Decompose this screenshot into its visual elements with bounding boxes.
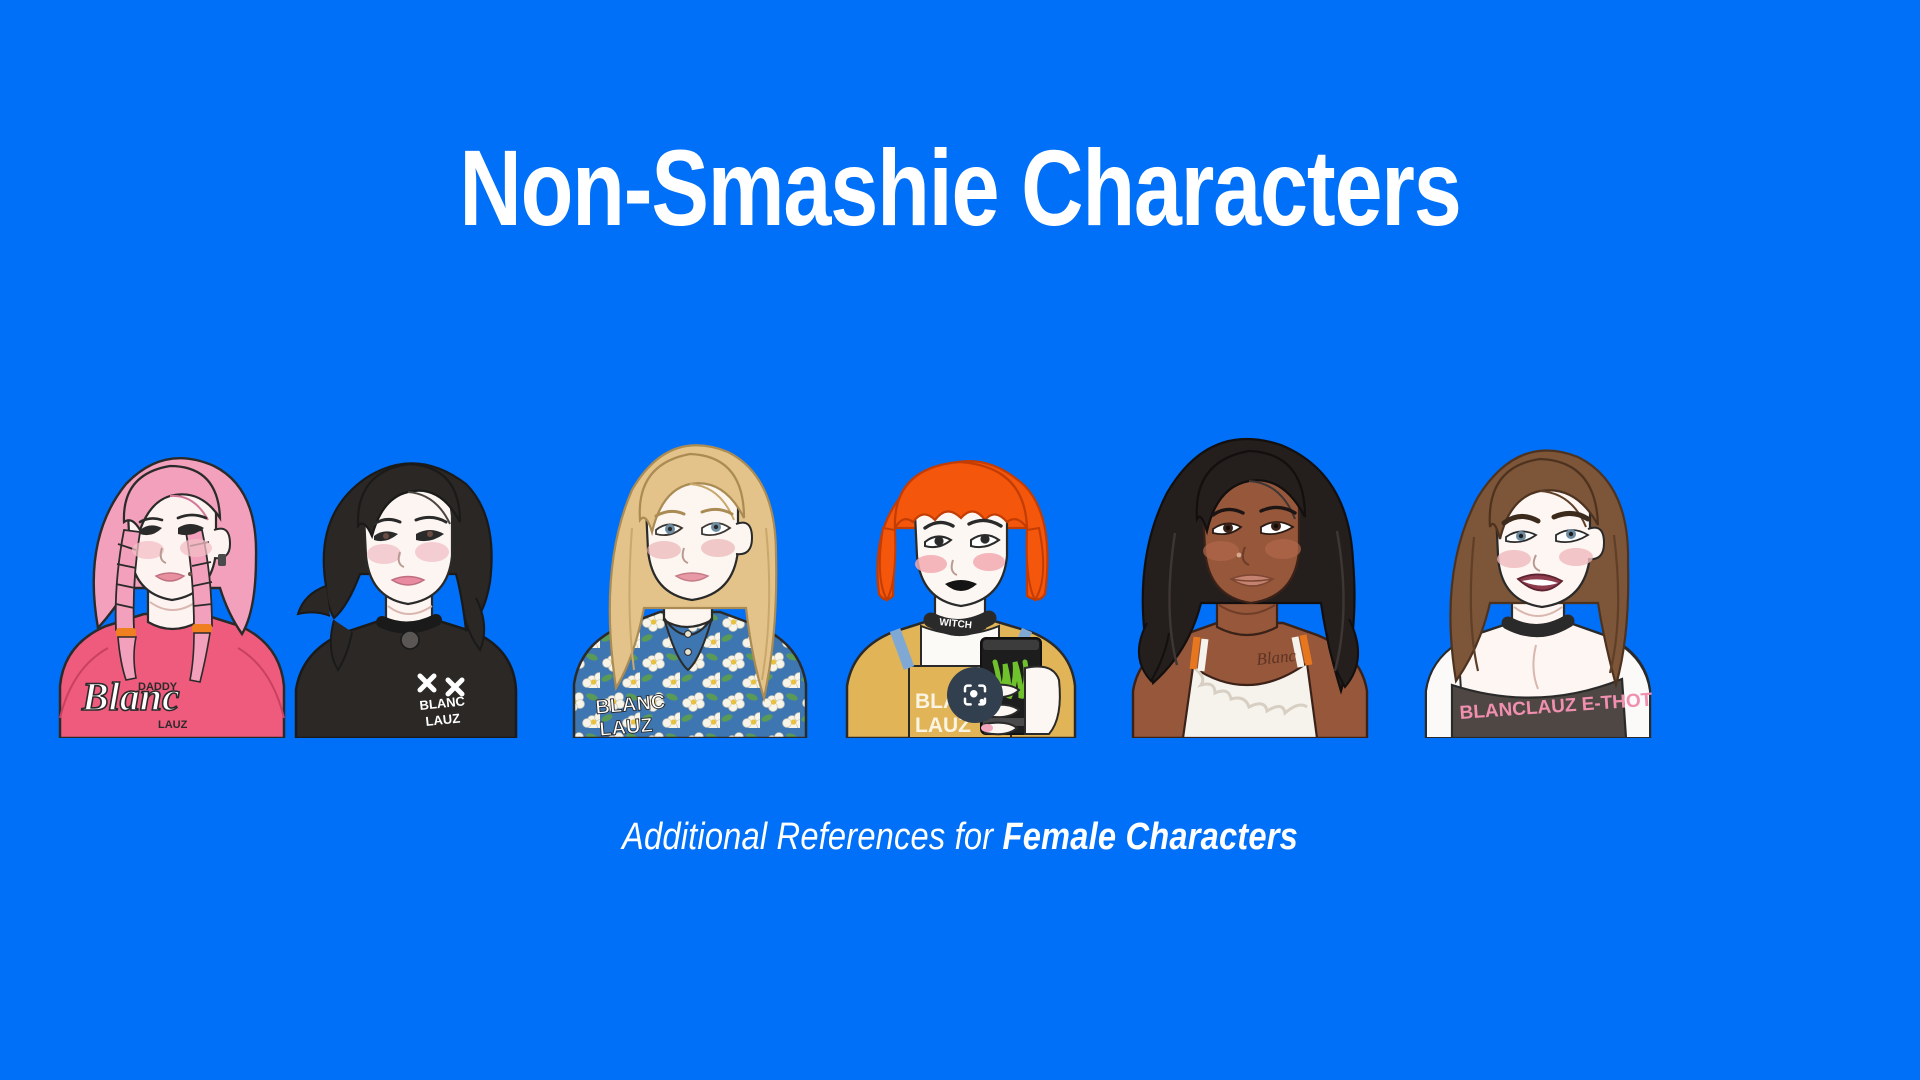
blonde-floral-character: BLANC LAUZ [560,408,820,738]
character-card-2[interactable]: BLANC LAUZ [290,418,520,738]
page-background: Non-Smashie Characters [0,0,1920,1080]
pink-braids-character: DADDY Blanc LAUZ [52,418,292,738]
subtitle-emphasis: Female Characters [1003,816,1298,858]
black-bob-character: BLANC LAUZ [290,418,520,738]
shirt-text-lauz: LAUZ [599,714,654,738]
subtitle-lead: Additional References for [622,816,1003,858]
shirt-text-blanc: Blanc [81,674,180,719]
shirt-text-lauz: LAUZ [158,719,188,731]
page-subtitle: Additional References for Female Charact… [134,816,1785,859]
character-card-6[interactable]: BLANCLAUZ E-THOT [1408,413,1658,738]
google-lens-button[interactable] [947,667,1003,723]
character-card-1[interactable]: DADDY Blanc LAUZ [52,418,292,738]
google-lens-icon [960,680,990,710]
page-title: Non-Smashie Characters [192,130,1728,247]
brunette-tube-top-character: BLANCLAUZ E-THOT [1408,413,1658,738]
character-card-5[interactable]: Blanc [1105,403,1395,738]
character-card-3[interactable]: BLANC LAUZ [560,408,820,738]
dark-skin-wavy-character: Blanc [1105,403,1395,738]
